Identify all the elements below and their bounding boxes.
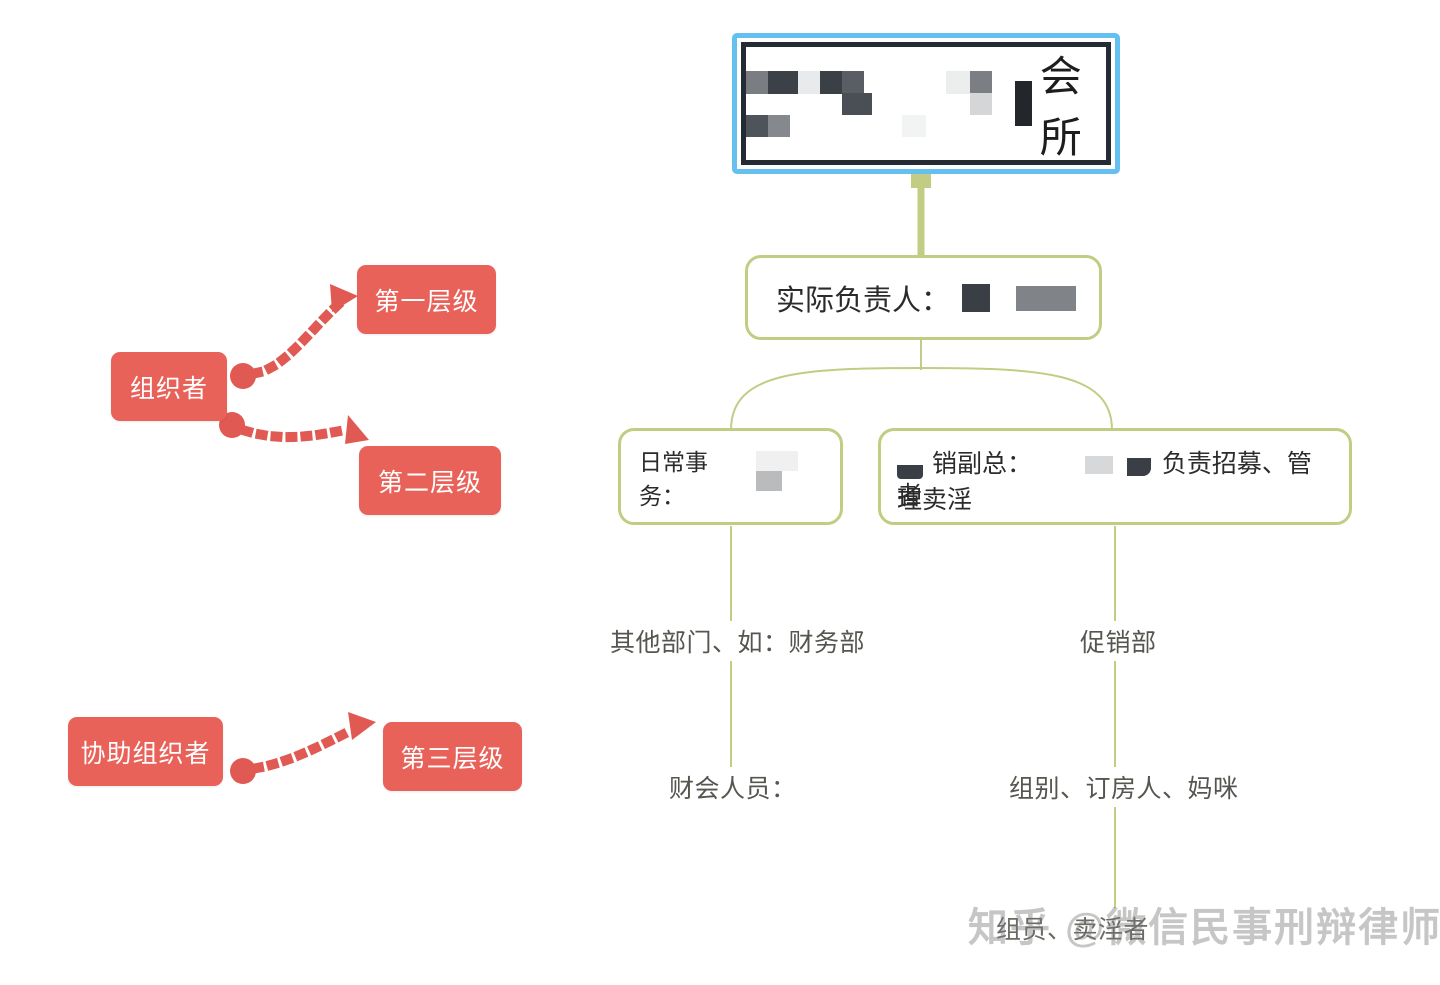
node-promo-label-prefix: 销副总： [932,450,1032,478]
legend-tier-1[interactable]: 第一层级 [357,265,496,334]
redaction-mosaic-promo-prefix [897,451,923,479]
redaction-mosaic-daily [756,451,822,491]
node-owner-label: 实际负责人： [776,277,950,319]
node-root-suffix-text: 会所 [1040,43,1106,165]
node-root-inner-frame: 会所 [741,42,1111,165]
redaction-mosaic-owner [962,284,1076,312]
node-root-title: 会所 [746,43,1106,165]
watermark-text: 知乎 @微信民事刑辩律师 [968,895,1440,953]
legend-tier-2[interactable]: 第二层级 [359,446,501,515]
leaf-other-departments: 其他部门、如：财务部 [604,621,871,661]
redaction-mosaic-root-1 [746,71,894,137]
legend-tier-2-label: 第二层级 [378,463,482,499]
node-daily-affairs-label: 日常事务： [639,443,750,511]
arrow-head-organizer-to-tier2 [345,415,369,444]
arrow-head-organizer-to-tier1 [330,284,358,312]
legend-role-assist-organizer[interactable]: 协助组织者 [68,717,223,786]
legend-tier-3[interactable]: 第三层级 [383,722,522,791]
legend-role-organizer-label: 组织者 [130,369,208,405]
redaction-mosaic-root-2 [902,71,1007,137]
legend-role-organizer[interactable]: 组织者 [111,352,227,421]
arrow-path-organizer-to-tier1 [256,303,340,373]
node-promo-line-2: 者 [897,479,922,515]
node-promo-line-1: 销副总： 负责招募、管理卖淫 [897,441,1333,518]
diagram-canvas: 组织者 协助组织者 第一层级 第二层级 第三层级 [0,0,1440,985]
leaf-finance-staff: 财会人员： [663,767,803,807]
arrow-head-assist-to-tier3 [348,712,376,740]
arrow-origin-dot-organizer-tier1 [230,363,256,389]
legend-tier-3-label: 第三层级 [400,739,504,775]
node-daily-affairs[interactable]: 日常事务： [618,428,843,525]
connector-branch-arc [731,368,1112,430]
legend-role-assist-organizer-label: 协助组织者 [80,734,210,770]
legend-tier-1-label: 第一层级 [374,282,478,318]
node-actual-person-in-charge[interactable]: 实际负责人： [745,255,1102,340]
node-promotion-vice-president[interactable]: 销副总： 负责招募、管理卖淫 者 [878,428,1352,525]
leaf-group-booking-mommy: 组别、订房人、妈咪 [1003,767,1245,807]
leaf-promotion-department: 促销部 [1074,621,1163,661]
arrow-origin-dot-assist-tier3 [230,758,256,784]
arrow-path-organizer-to-tier2 [246,430,345,437]
redaction-mosaic-root-3 [1015,81,1032,126]
node-root-venue[interactable]: 会所 [732,33,1120,174]
arrow-path-assist-to-tier3 [257,730,352,768]
redaction-mosaic-promo-name [1043,454,1151,476]
